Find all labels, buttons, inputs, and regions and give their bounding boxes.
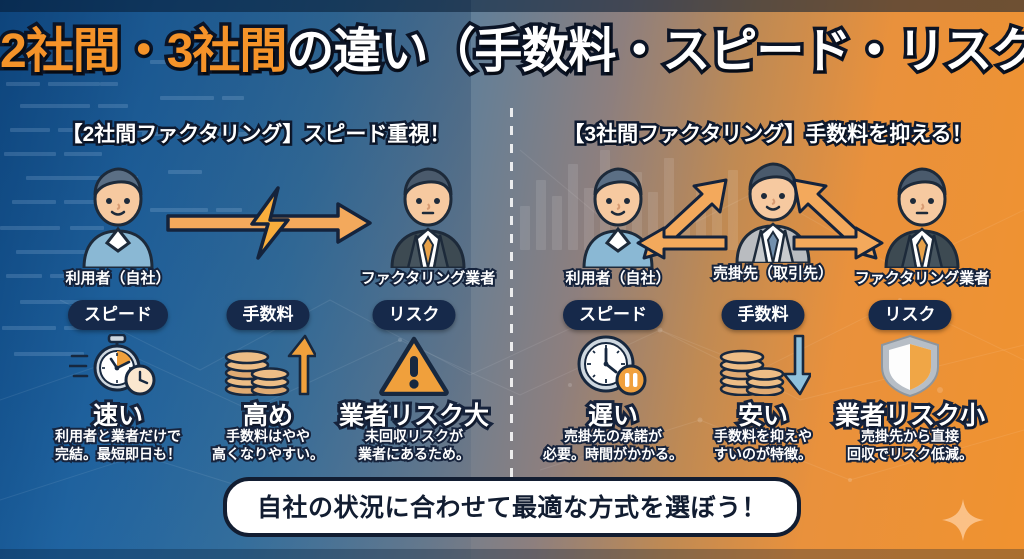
feature-desc-right-speed: 売掛先の承諾が 必要。時間がかかる。	[543, 428, 683, 463]
person-label: ファクタリング業者	[842, 267, 1002, 288]
clock-pause-icon	[573, 334, 653, 401]
desc-line: 完結。最短即日も！	[55, 446, 181, 464]
triangular-arrows-icon	[630, 170, 890, 270]
feature-title-left-risk: 業者リスク大	[339, 396, 489, 432]
person-user-left: 利用者（自社）	[68, 163, 168, 268]
person-label: 利用者（自社）	[538, 267, 698, 288]
desc-line: 手数料はやや	[212, 428, 324, 446]
desc-line: 回収でリスク低減。	[847, 446, 973, 464]
desc-line: 未回収リスクが	[358, 428, 470, 446]
panel-heading-left: 【2社間ファクタリング】スピード重視！	[0, 118, 512, 148]
feature-tag-right-risk: リスク	[869, 300, 952, 330]
feature-desc-right-risk: 売掛先から直接 回収でリスク低減。	[847, 428, 973, 463]
feature-tag-right-speed: スピード	[563, 300, 663, 330]
stopwatch-icon	[69, 334, 167, 401]
shield-icon	[879, 334, 941, 403]
feature-tag-right-fee: 手数料	[722, 300, 805, 330]
top-band	[0, 0, 1024, 12]
feature-title-left-fee: 高め	[243, 396, 293, 432]
desc-line: 高くなりやすい。	[212, 446, 324, 464]
lightning-bolt-icon	[166, 186, 376, 260]
person-label: 利用者（自社）	[38, 267, 198, 288]
page-title: 2社間・3社間の違い（手数料・スピード・リスク）	[0, 28, 1024, 76]
desc-line: 必要。時間がかかる。	[543, 446, 683, 464]
desc-line: 業者にあるため。	[358, 446, 470, 464]
feature-desc-left-risk: 未回収リスクが 業者にあるため。	[358, 428, 470, 463]
person-factor-left: ファクタリング業者	[378, 163, 478, 268]
bottom-band	[0, 549, 1024, 559]
desc-line: 利用者と業者だけで	[55, 428, 181, 446]
feature-desc-left-fee: 手数料はやや 高くなりやすい。	[212, 428, 324, 463]
person-avatar-user	[68, 163, 168, 268]
panel-heading-right: 【3社間ファクタリング】手数料を抑える！	[512, 118, 1024, 148]
feature-title-left-speed: 速い	[93, 396, 143, 432]
coins-down-arrow-icon	[715, 334, 811, 401]
feature-title-right-risk: 業者リスク小	[835, 396, 985, 432]
feature-tag-left-speed: スピード	[68, 300, 168, 330]
callout-tail-fill	[503, 484, 521, 495]
four-point-star-icon	[940, 497, 986, 543]
feature-title-right-fee: 安い	[738, 396, 788, 432]
feature-tag-left-fee: 手数料	[227, 300, 310, 330]
title-white-part: の違い（手数料・スピード・リスク）	[286, 25, 1024, 78]
warning-triangle-icon	[379, 336, 449, 401]
desc-line: すいのが特徴。	[714, 446, 812, 464]
person-avatar-factor	[378, 163, 478, 268]
infographic-canvas: 2社間・3社間の違い（手数料・スピード・リスク） 【2社間ファクタリング】スピー…	[0, 0, 1024, 559]
feature-desc-left-speed: 利用者と業者だけで 完結。最短即日も！	[55, 428, 181, 463]
feature-title-right-speed: 遅い	[588, 396, 638, 432]
coins-up-arrow-icon	[220, 334, 316, 401]
desc-line: 売掛先の承諾が	[543, 428, 683, 446]
person-label: ファクタリング業者	[348, 267, 508, 288]
dashed-vertical-divider	[510, 108, 513, 498]
feature-desc-right-fee: 手数料を抑えや すいのが特徴。	[714, 428, 812, 463]
desc-line: 手数料を抑えや	[714, 428, 812, 446]
desc-line: 売掛先から直接	[847, 428, 973, 446]
feature-tag-left-risk: リスク	[373, 300, 456, 330]
title-orange-part: 2社間・3社間	[0, 25, 286, 78]
